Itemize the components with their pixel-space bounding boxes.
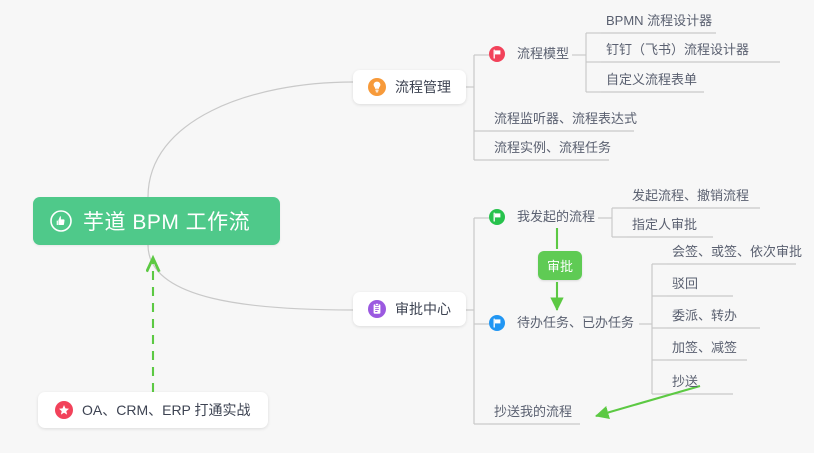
floating-node-oa-crm-erp[interactable]: OA、CRM、ERP 打通实战 xyxy=(38,392,268,428)
node-todo-done-tasks[interactable]: 待办任务、已办任务 xyxy=(489,315,639,331)
leaf-label-add-remove-sign: 加签、减签 xyxy=(667,340,742,360)
leaf-label-reject: 驳回 xyxy=(667,276,703,296)
leaf-assignee-approval[interactable]: 指定人审批 xyxy=(627,217,702,237)
node-label-my-initiated-process: 我发起的流程 xyxy=(512,209,600,225)
branch-node-approval-center[interactable]: 审批中心 xyxy=(353,292,466,326)
leaf-countersign-orsign-sequential[interactable]: 会签、或签、依次审批 xyxy=(667,244,807,264)
leaf-process-listener-expression[interactable]: 流程监听器、流程表达式 xyxy=(489,111,642,131)
leaf-cc-to-me-process[interactable]: 抄送我的流程 xyxy=(489,404,577,424)
leaf-label-delegate-transfer: 委派、转办 xyxy=(667,308,742,328)
approval-badge[interactable]: 审批 xyxy=(538,251,582,280)
root-node[interactable]: 芋道 BPM 工作流 xyxy=(33,197,280,245)
flag-red-icon xyxy=(489,46,505,62)
mindmap-canvas: 芋道 BPM 工作流 流程管理 审批中心 流程模型 xyxy=(0,0,814,453)
leaf-dingtalk-feishu-designer[interactable]: 钉钉（飞书）流程设计器 xyxy=(601,42,754,62)
leaf-label-process-instance-task: 流程实例、流程任务 xyxy=(489,140,616,160)
link-root-to-process-management xyxy=(148,82,353,197)
root-label: 芋道 BPM 工作流 xyxy=(83,206,250,236)
node-label-todo-done-tasks: 待办任务、已办任务 xyxy=(512,315,639,331)
leaf-custom-process-form[interactable]: 自定义流程表单 xyxy=(601,72,702,92)
flag-blue-icon xyxy=(489,315,505,331)
leaf-start-cancel-process[interactable]: 发起流程、撤销流程 xyxy=(627,188,754,208)
node-my-initiated-process[interactable]: 我发起的流程 xyxy=(489,209,600,225)
node-label-process-model: 流程模型 xyxy=(512,46,574,62)
leaf-reject[interactable]: 驳回 xyxy=(667,276,703,296)
leaf-label-cc-to-me-process: 抄送我的流程 xyxy=(489,404,577,424)
leaf-label-bpmn-designer: BPMN 流程设计器 xyxy=(601,13,717,33)
link-root-to-approval-center xyxy=(148,245,353,310)
approval-badge-label: 审批 xyxy=(547,259,573,274)
leaf-delegate-transfer[interactable]: 委派、转办 xyxy=(667,308,742,328)
node-process-model[interactable]: 流程模型 xyxy=(489,46,574,62)
floating-label-oa-crm-erp: OA、CRM、ERP 打通实战 xyxy=(82,400,251,420)
leaf-label-custom-process-form: 自定义流程表单 xyxy=(601,72,702,92)
star-icon xyxy=(55,401,73,419)
thumbs-up-icon xyxy=(50,210,72,232)
leaf-label-countersign-orsign-sequential: 会签、或签、依次审批 xyxy=(667,244,807,264)
leaf-process-instance-task[interactable]: 流程实例、流程任务 xyxy=(489,140,616,160)
branch-label-process-management: 流程管理 xyxy=(395,77,451,97)
branch-label-approval-center: 审批中心 xyxy=(395,299,451,319)
leaf-cc[interactable]: 抄送 xyxy=(667,374,703,394)
leaf-label-start-cancel-process: 发起流程、撤销流程 xyxy=(627,188,754,208)
flag-green-icon xyxy=(489,209,505,225)
leaf-label-process-listener-expression: 流程监听器、流程表达式 xyxy=(489,111,642,131)
leaf-label-assignee-approval: 指定人审批 xyxy=(627,217,702,237)
leaf-add-remove-sign[interactable]: 加签、减签 xyxy=(667,340,742,360)
lightbulb-icon xyxy=(368,78,386,96)
leaf-label-cc: 抄送 xyxy=(667,374,703,394)
leaf-label-dingtalk-feishu-designer: 钉钉（飞书）流程设计器 xyxy=(601,42,754,62)
branch-node-process-management[interactable]: 流程管理 xyxy=(353,70,466,104)
leaf-bpmn-designer[interactable]: BPMN 流程设计器 xyxy=(601,13,717,33)
clipboard-icon xyxy=(368,300,386,318)
